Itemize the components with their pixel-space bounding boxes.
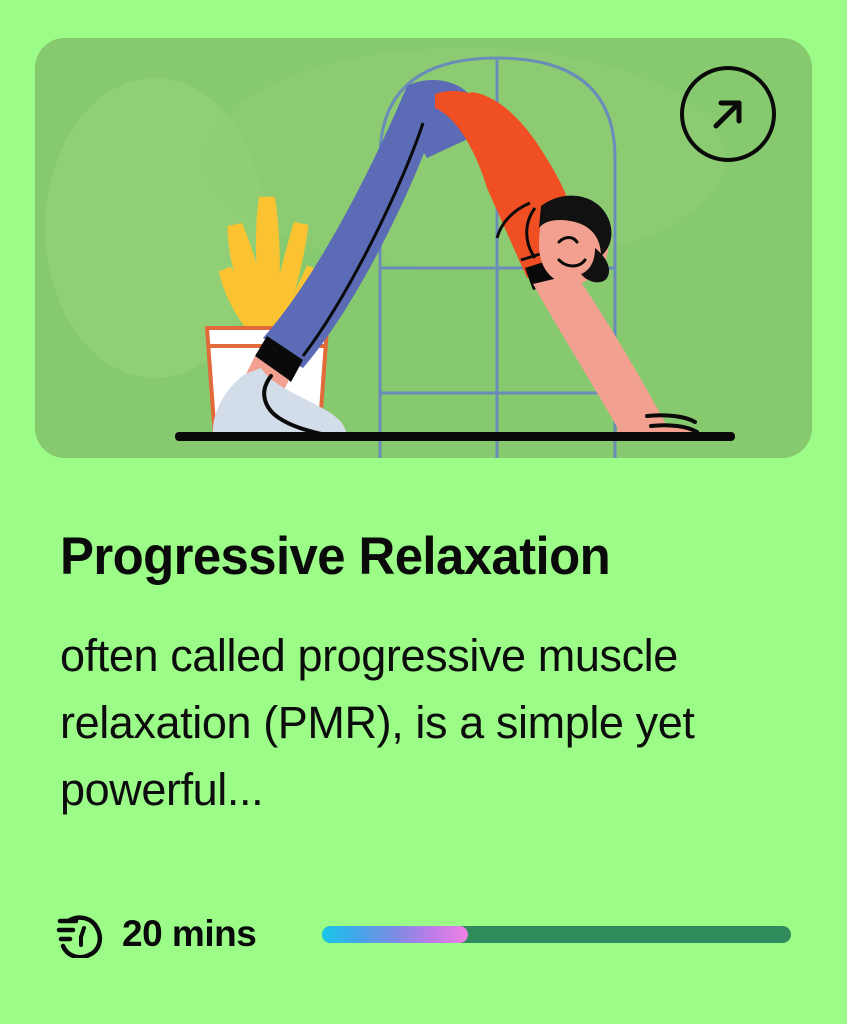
open-detail-button[interactable] — [680, 66, 776, 162]
page-title: Progressive Relaxation — [60, 528, 761, 585]
card-footer: 20 mins — [56, 902, 791, 966]
description-text: often called progressive muscle relaxati… — [60, 622, 800, 823]
arrow-up-right-icon — [706, 92, 750, 136]
progress-bar-fill — [322, 926, 467, 943]
duration-group: 20 mins — [56, 910, 256, 958]
hero-card[interactable] — [35, 38, 812, 458]
progress-bar[interactable] — [322, 926, 791, 943]
speed-timer-icon — [56, 910, 104, 958]
duration-label: 20 mins — [122, 913, 256, 955]
